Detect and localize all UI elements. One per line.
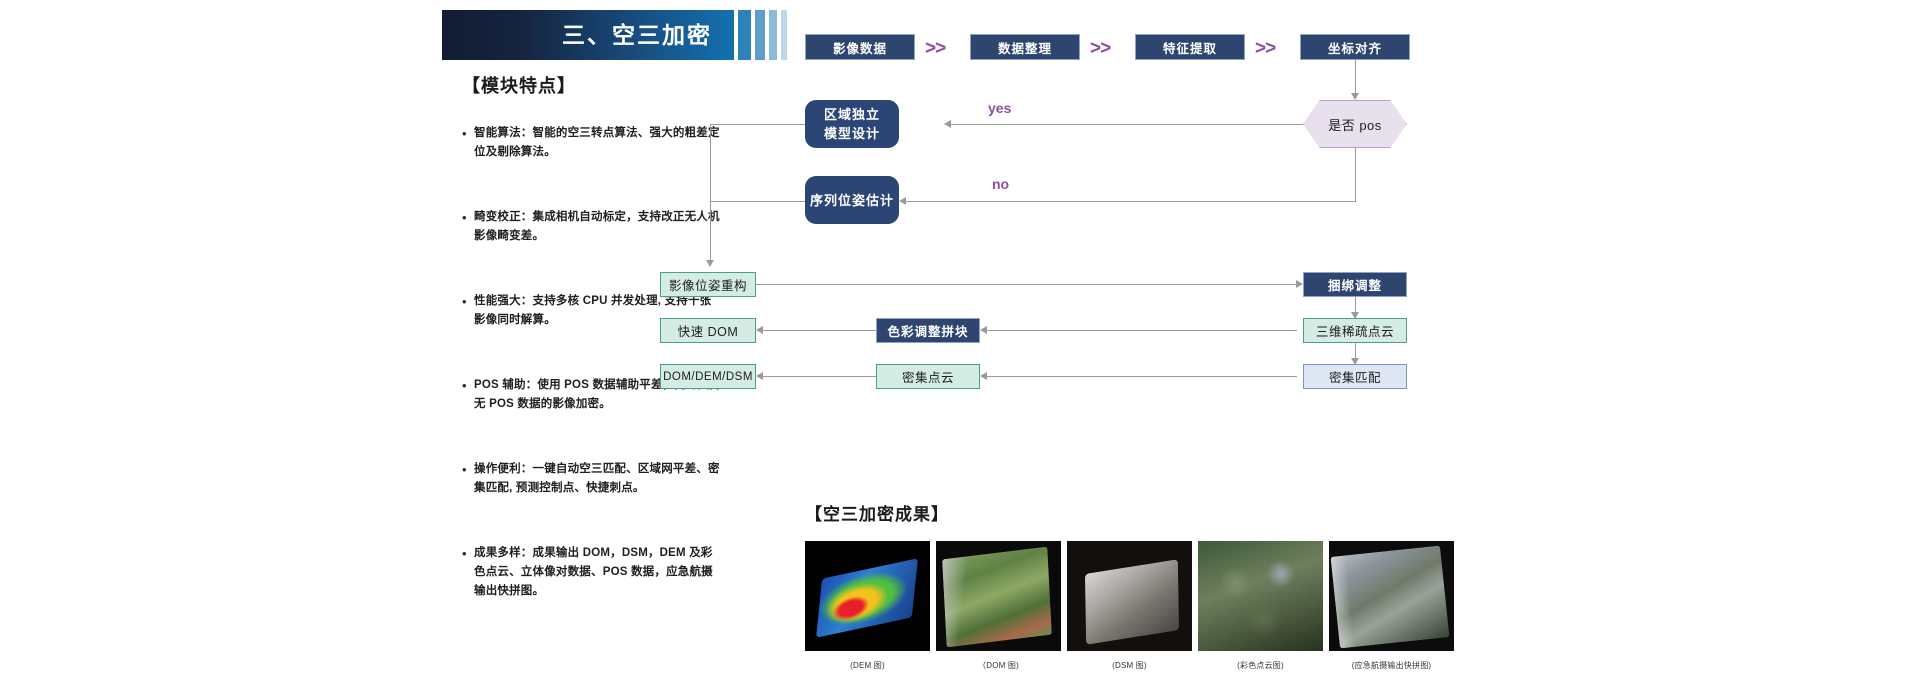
workflow-diagram: 影像数据 >> 数据整理 >> 特征提取 >> 坐标对齐 是否 pos yes … (805, 24, 1505, 384)
bullet-icon: • (462, 292, 474, 330)
arrow-left-to-fastdom (756, 326, 763, 334)
bullet-icon: • (462, 544, 474, 601)
banner-accent-bar-3 (769, 10, 777, 60)
pipeline-chevron-1: >> (925, 38, 945, 60)
bullet-icon: • (462, 376, 474, 414)
result-item[interactable]: (DEM 图) (805, 541, 930, 671)
color-pointcloud-thumbnail-image[interactable] (1198, 541, 1323, 651)
flow-node-region-model-line1: 区域独立 (824, 105, 880, 124)
result-caption: (彩色点云图) (1198, 660, 1323, 671)
fast-mosaic-thumbnail-image[interactable] (1329, 541, 1454, 651)
pipeline-chevron-2: >> (1090, 38, 1110, 60)
result-item[interactable]: （DOM 图) (936, 541, 1061, 671)
edge-label-no: no (992, 176, 1009, 192)
result-item[interactable]: (应急航摄输出快拼图) (1329, 541, 1454, 671)
arrow-down-to-pose-reconstruct (706, 260, 714, 267)
flow-node-coord-align[interactable]: 坐标对齐 (1300, 34, 1410, 60)
flow-node-fast-dom[interactable]: 快速 DOM (660, 318, 756, 343)
module-features-panel: 【模块特点】 • 智能算法：智能的空三转点算法、强大的粗差定位及剔除算法。 • … (462, 72, 722, 647)
dsm-thumbnail-image[interactable] (1067, 541, 1192, 651)
arrow-no-to-pose-estimate (899, 197, 906, 205)
bullet-icon: • (462, 124, 474, 162)
edge-no-horizontal (906, 201, 1356, 202)
pipeline-chevron-3: >> (1255, 38, 1275, 60)
results-thumbnail-row: (DEM 图) （DOM 图) (DSM 图) (彩色点云图) (应急航摄输出快… (805, 541, 1450, 671)
slide-root: 三、空三加密 【模块特点】 • 智能算法：智能的空三转点算法、强大的粗差定位及剔… (0, 0, 1920, 700)
flow-node-data-sorting[interactable]: 数据整理 (970, 34, 1080, 60)
arrow-left-to-dense-cloud (980, 372, 987, 380)
section-title-banner: 三、空三加密 (442, 10, 794, 60)
edge-color-to-fastdom (763, 330, 876, 331)
feature-item: • 智能算法：智能的空三转点算法、强大的粗差定位及剔除算法。 (462, 124, 722, 162)
result-caption: (应急航摄输出快拼图) (1329, 660, 1454, 671)
banner-accent-bar-4 (781, 10, 787, 60)
edge-no-vertical (1355, 148, 1356, 201)
arrow-left-to-products (756, 372, 763, 380)
results-heading: 【空三加密成果】 (805, 500, 1450, 525)
flow-node-pose-reconstruct[interactable]: 影像位姿重构 (660, 272, 756, 297)
feature-text: 操作便利：一键自动空三匹配、区域网平差、密集匹配, 预测控制点、快捷刺点。 (474, 460, 722, 498)
features-heading: 【模块特点】 (462, 72, 722, 98)
edge-yes-line (951, 124, 1303, 125)
banner-gradient-block: 三、空三加密 (442, 10, 734, 60)
result-caption: (DEM 图) (805, 660, 930, 671)
arrow-left-to-color (980, 326, 987, 334)
flow-node-region-model[interactable]: 区域独立 模型设计 (805, 100, 899, 148)
edge-align-to-decision (1355, 60, 1356, 95)
dom-thumbnail-image[interactable] (936, 541, 1061, 651)
flow-node-pose-estimate[interactable]: 序列位姿估计 (805, 176, 899, 224)
arrow-right-to-bundle (1296, 280, 1303, 288)
feature-item: • 成果多样：成果输出 DOM，DSM，DEM 及彩色点云、立体像对数据、POS… (462, 544, 722, 601)
feature-item: • 畸变校正：集成相机自动标定，支持改正无人机影像畸变差。 (462, 208, 722, 246)
result-caption: （DOM 图) (936, 660, 1061, 671)
edge-dense-to-products (763, 376, 876, 377)
flow-node-dom-dem-dsm[interactable]: DOM/DEM/DSM (660, 364, 756, 389)
edge-label-yes: yes (988, 100, 1011, 116)
result-caption: (DSM 图) (1067, 660, 1192, 671)
flow-decision-has-pos[interactable]: 是否 pos (1303, 100, 1407, 148)
flow-node-color-merge[interactable]: 色彩调整拼块 (876, 318, 980, 343)
edge-collector-bottom (710, 201, 805, 202)
feature-text: 畸变校正：集成相机自动标定，支持改正无人机影像畸变差。 (474, 208, 722, 246)
page-title: 三、空三加密 (562, 24, 712, 47)
feature-text: 智能算法：智能的空三转点算法、强大的粗差定位及剔除算法。 (474, 124, 722, 162)
flow-node-region-model-line2: 模型设计 (824, 124, 880, 143)
edge-sparse-to-color (987, 330, 1297, 331)
flow-node-bundle-adjust[interactable]: 捆绑调整 (1303, 272, 1407, 297)
feature-text: 成果多样：成果输出 DOM，DSM，DEM 及彩色点云、立体像对数据、POS 数… (474, 544, 722, 601)
flow-node-sparse-cloud[interactable]: 三维稀疏点云 (1303, 318, 1407, 343)
results-section: 【空三加密成果】 (DEM 图) （DOM 图) (DSM 图) (彩色点云图)… (805, 500, 1450, 671)
flow-node-dense-cloud[interactable]: 密集点云 (876, 364, 980, 389)
edge-collector-top (710, 124, 805, 125)
flow-node-feature-extract[interactable]: 特征提取 (1135, 34, 1245, 60)
feature-item: • 操作便利：一键自动空三匹配、区域网平差、密集匹配, 预测控制点、快捷刺点。 (462, 460, 722, 498)
result-item[interactable]: (DSM 图) (1067, 541, 1192, 671)
flow-node-image-data[interactable]: 影像数据 (805, 34, 915, 60)
flow-node-dense-match[interactable]: 密集匹配 (1303, 364, 1407, 389)
dem-thumbnail-image[interactable] (805, 541, 930, 651)
bullet-icon: • (462, 208, 474, 246)
edge-collector-vertical (710, 124, 711, 262)
banner-accent-bar-1 (738, 10, 751, 60)
banner-accent-bar-2 (755, 10, 765, 60)
bullet-icon: • (462, 460, 474, 498)
edge-match-to-dense (987, 376, 1297, 377)
result-item[interactable]: (彩色点云图) (1198, 541, 1323, 671)
edge-reconstruct-to-bundle (756, 284, 1297, 285)
arrow-yes-to-region-model (944, 120, 951, 128)
arrow-down-to-decision (1351, 93, 1359, 100)
